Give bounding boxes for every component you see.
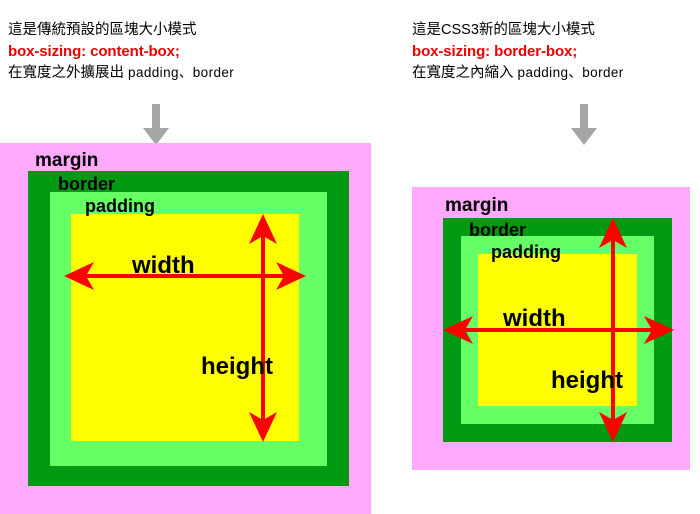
left-caption-line3-cjk: 在寬度之外擴展出 (8, 65, 124, 81)
left-caption-line3: 在寬度之外擴展出 padding、border (8, 62, 234, 84)
right-caption-line3-latin: padding、border (518, 65, 624, 80)
right-label-height: height (551, 369, 623, 393)
left-label-width: width (132, 254, 195, 278)
diagram-canvas: 這是傳統預設的區塊大小模式 box-sizing: content-box; 在… (0, 0, 700, 514)
left-caption-line1: 這是傳統預設的區塊大小模式 (8, 20, 234, 41)
left-caption-code: box-sizing: content-box; (8, 41, 234, 62)
right-gray-down-arrow-icon (569, 104, 599, 146)
content-box-diagram: margin border padding width height (0, 143, 371, 514)
right-caption-code: box-sizing: border-box; (412, 41, 624, 62)
left-dimension-arrows (0, 143, 371, 514)
right-caption-line3-cjk: 在寬度之內縮入 (412, 65, 514, 81)
right-label-width: width (503, 307, 566, 331)
left-label-height: height (201, 355, 273, 379)
left-caption-block: 這是傳統預設的區塊大小模式 box-sizing: content-box; 在… (8, 20, 234, 84)
left-caption-line3-latin: padding、border (128, 65, 234, 80)
right-caption-block: 這是CSS3新的區塊大小模式 box-sizing: border-box; 在… (412, 20, 624, 84)
right-caption-line1: 這是CSS3新的區塊大小模式 (412, 20, 624, 41)
right-caption-line3: 在寬度之內縮入 padding、border (412, 62, 624, 84)
left-gray-down-arrow-icon (141, 104, 171, 146)
border-box-diagram: margin border padding width height (412, 187, 690, 470)
